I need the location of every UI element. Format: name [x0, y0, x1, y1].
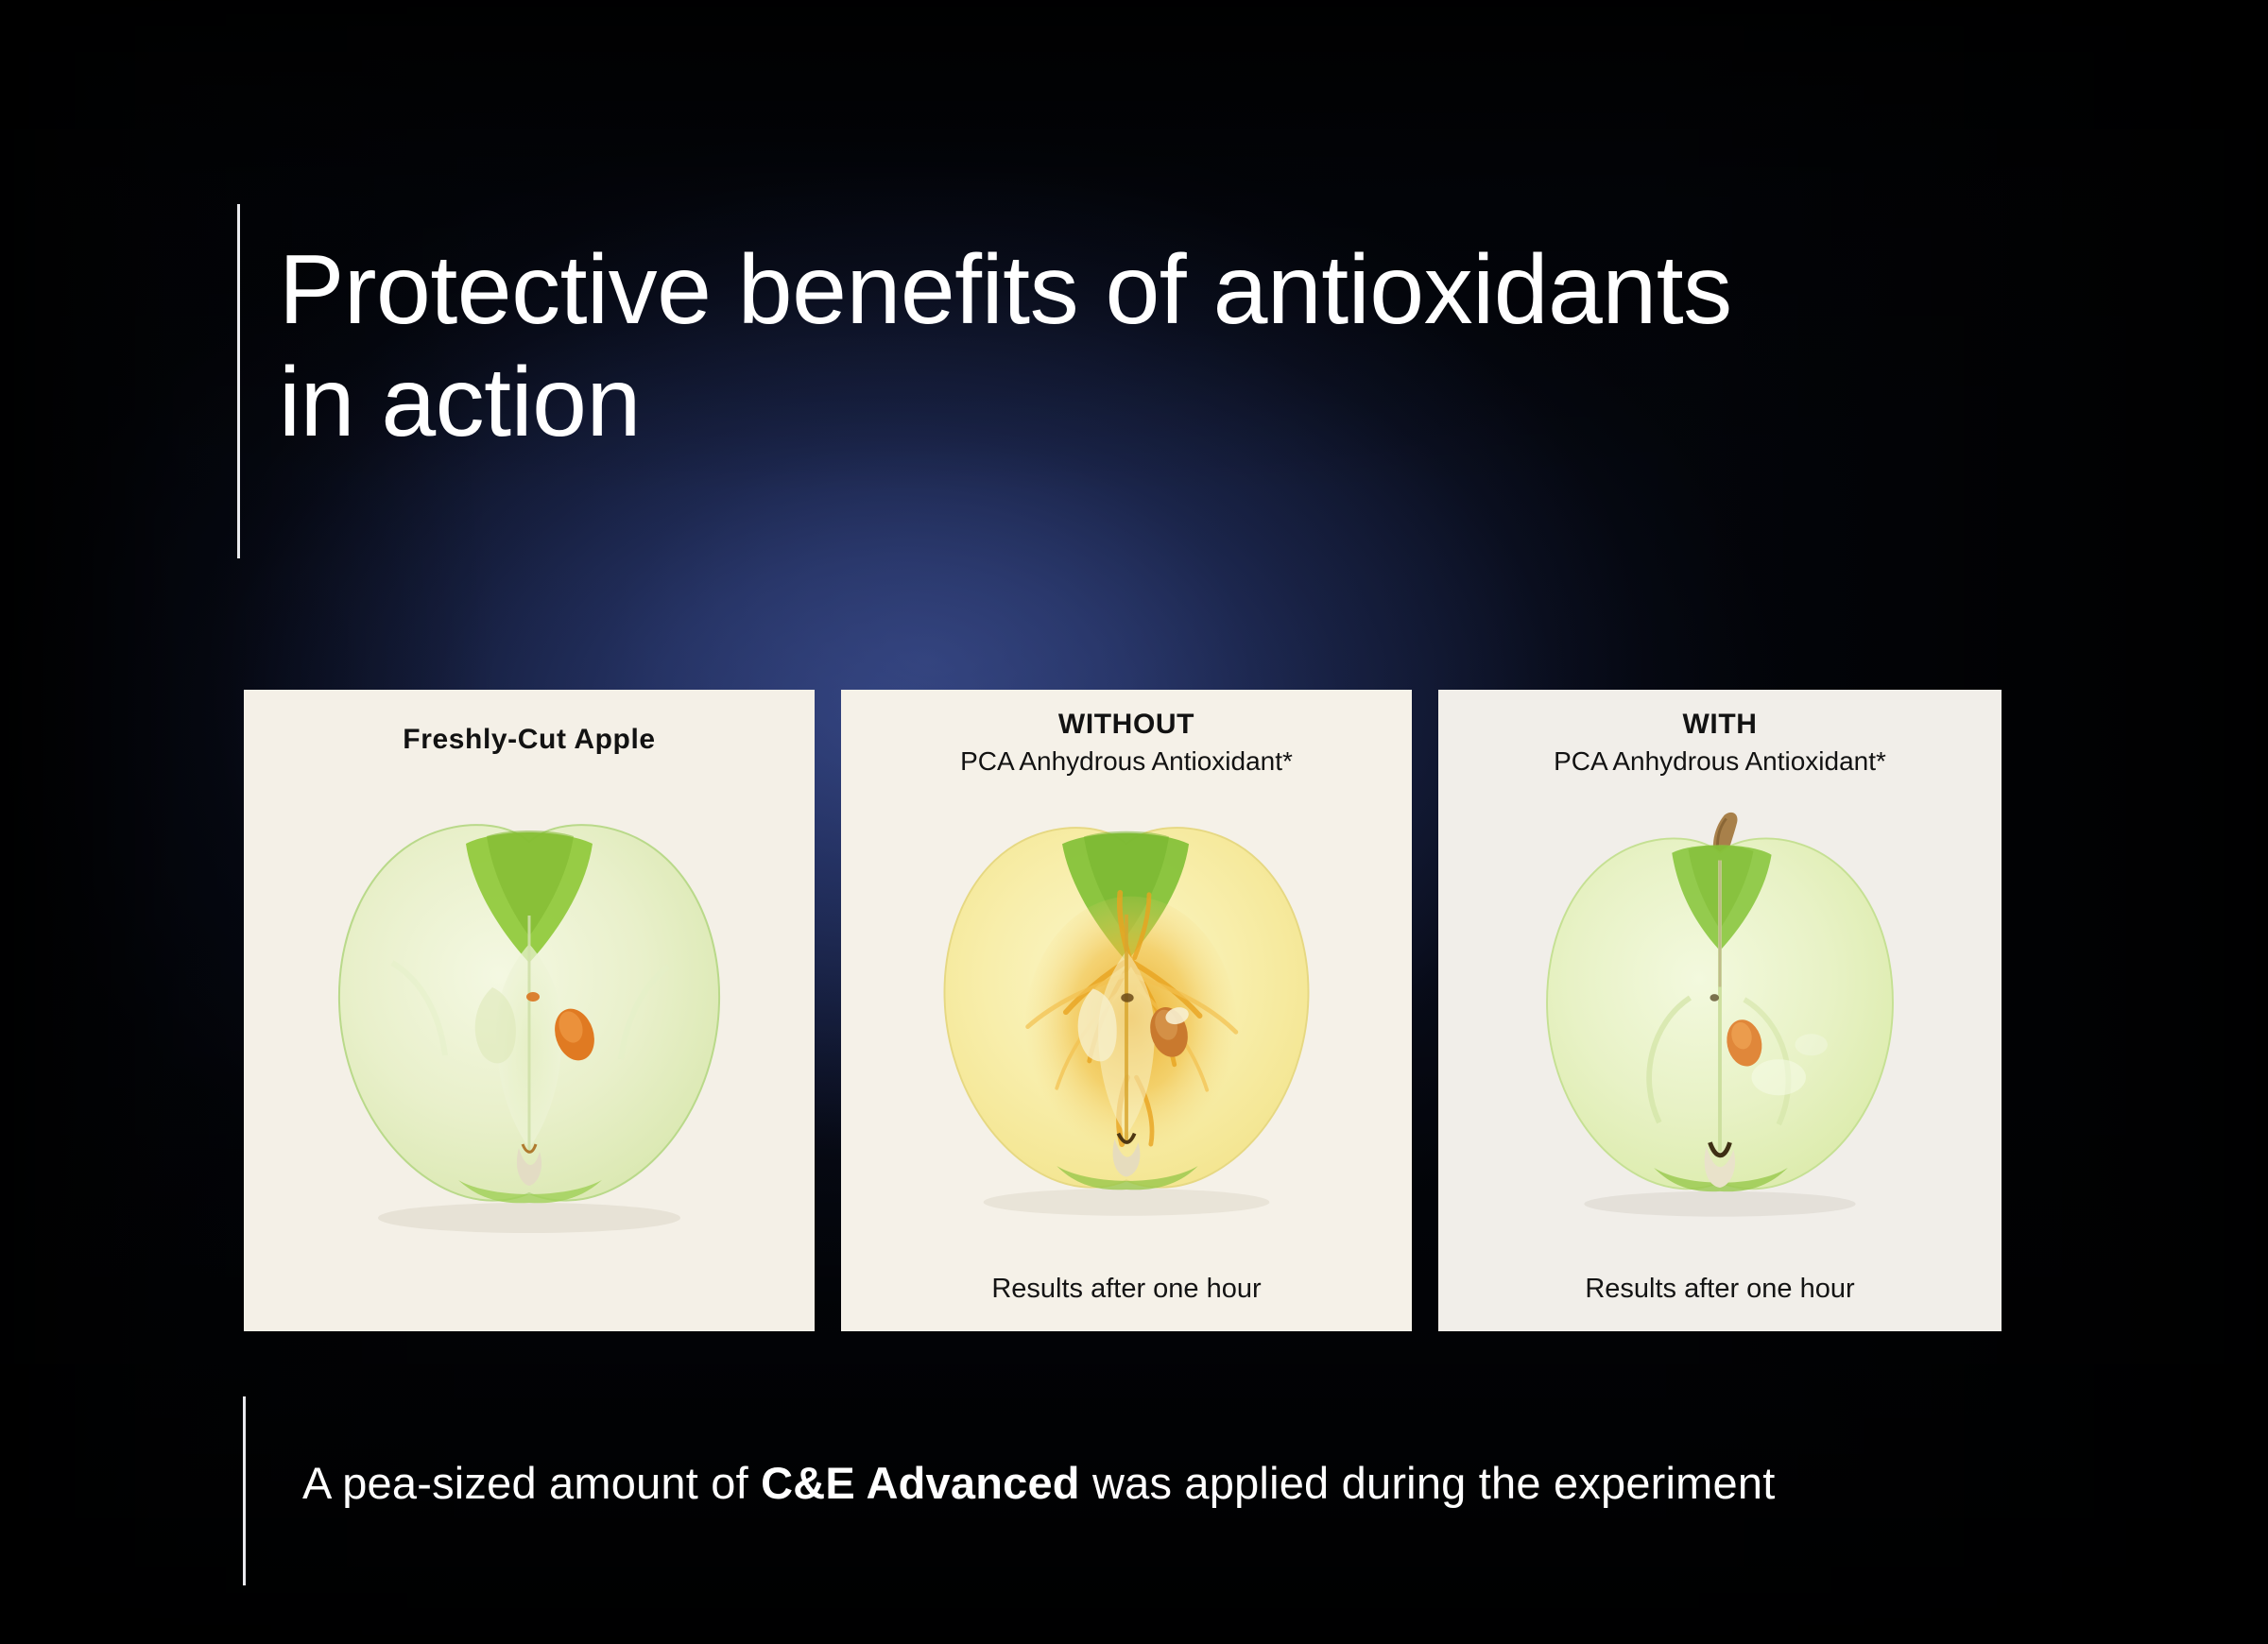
apple-image-fresh: [244, 788, 815, 1260]
panel-heading-strong: WITH: [1438, 707, 2002, 743]
comparison-panels: Freshly-Cut Apple: [244, 690, 2002, 1331]
panel-header: Freshly-Cut Apple: [244, 690, 815, 758]
panel-header: WITHOUT PCA Anhydrous Antioxidant*: [841, 690, 1412, 779]
panel-heading-sub: PCA Anhydrous Antioxidant*: [841, 745, 1412, 779]
page-title: Protective benefits of antioxidants in a…: [279, 234, 2074, 458]
apple-oxidized-illustration: [914, 806, 1339, 1231]
panel-freshly-cut-apple[interactable]: Freshly-Cut Apple: [244, 690, 815, 1331]
title-accent-rule: [237, 204, 240, 558]
panel-heading-sub: PCA Anhydrous Antioxidant*: [1438, 745, 2002, 779]
panel-caption: Results after one hour: [841, 1274, 1412, 1305]
footer-caption: A pea-sized amount of C&E Advanced was a…: [302, 1457, 1775, 1509]
panel-heading-strong: WITHOUT: [841, 707, 1412, 743]
slide-canvas: Protective benefits of antioxidants in a…: [0, 0, 2268, 1644]
panel-heading-strong: Freshly-Cut Apple: [244, 722, 815, 758]
panel-header: WITH PCA Anhydrous Antioxidant*: [1438, 690, 2002, 779]
footer-text-after: was applied during the experiment: [1080, 1458, 1776, 1508]
apple-protected-illustration: [1507, 806, 1933, 1231]
apple-image-oxidized: [841, 801, 1412, 1236]
footer-accent-rule: [243, 1396, 246, 1585]
apple-image-protected: [1438, 801, 2002, 1236]
apple-fresh-illustration: [307, 802, 751, 1246]
panel-with-antioxidant[interactable]: WITH PCA Anhydrous Antioxidant*: [1438, 690, 2002, 1331]
footer-product-name: C&E Advanced: [761, 1458, 1080, 1508]
panel-caption: Results after one hour: [1438, 1274, 2002, 1305]
panel-without-antioxidant[interactable]: WITHOUT PCA Anhydrous Antioxidant*: [841, 690, 1412, 1331]
footer-text-before: A pea-sized amount of: [302, 1458, 761, 1508]
